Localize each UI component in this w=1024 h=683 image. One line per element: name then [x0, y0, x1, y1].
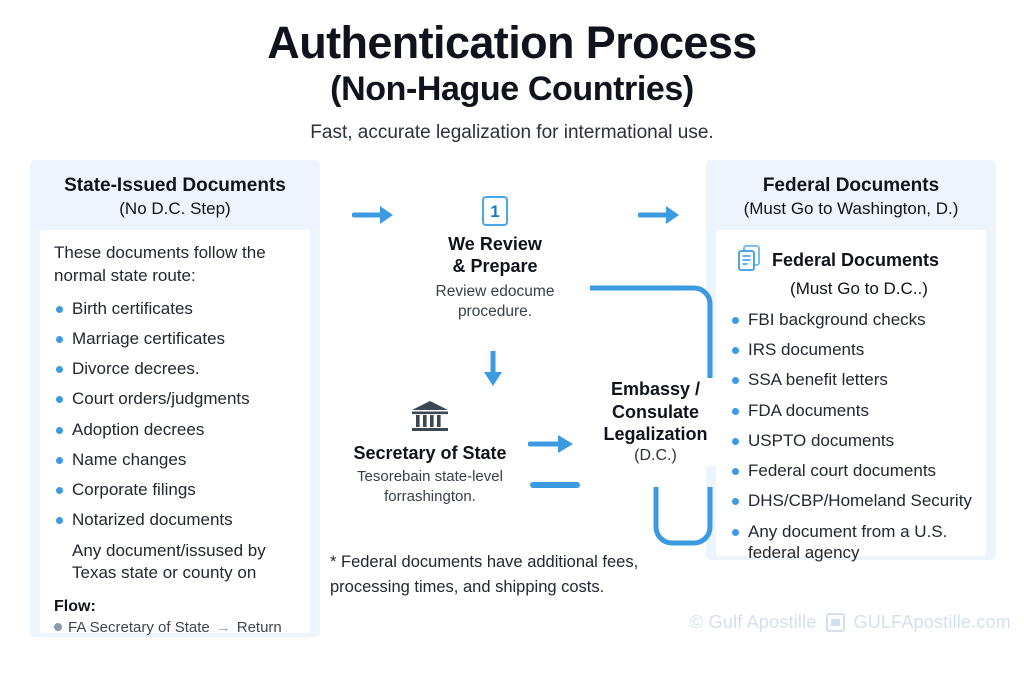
list-item: FBI background checks	[730, 309, 972, 330]
watermark-copyright: © Gulf Apostille	[690, 612, 817, 633]
page-tagline: Fast, accurate legalization for intermat…	[0, 122, 1024, 144]
step-1-desc-line1: Review edocume	[400, 282, 590, 302]
embassy-line2: Consulate	[588, 401, 723, 424]
bank-icon	[409, 421, 451, 438]
list-item: Name changes	[54, 449, 296, 470]
list-item: Federal court documents	[730, 460, 972, 481]
footnote-line1: * Federal documents have additional fees…	[330, 550, 700, 575]
list-item: SSA benefit letters	[730, 369, 972, 390]
arrow-right-to-step1-icon	[352, 202, 396, 233]
sos-desc-line2: forrashington.	[335, 487, 525, 507]
state-documents-panel: State-Issued Documents (No D.C. Step) Th…	[30, 160, 320, 637]
flow-step-text: FA Secretary of State	[68, 619, 210, 636]
step-1-desc-line2: procedure.	[400, 302, 590, 322]
page-subtitle: (Non-Hague Countries)	[0, 72, 1024, 106]
secretary-of-state-card: Secretary of State Tesorebain state-leve…	[335, 398, 525, 503]
connector-bar-sos	[530, 482, 580, 488]
state-note-text: Any document/issused by Texas state or c…	[54, 540, 296, 584]
federal-card-subtitle: (Must Go to D.C..)	[746, 279, 972, 299]
embassy-line1: Embassy /	[588, 378, 723, 401]
sos-desc-line1: Tesorebain state-level	[335, 467, 525, 487]
list-item: Corporate filings	[54, 479, 296, 500]
flow-row: FA Secretary of State → Return	[54, 619, 296, 636]
infographic-canvas: Authentication Process (Non-Hague Countr…	[0, 0, 1024, 683]
step-number-badge: 1	[482, 196, 508, 226]
footnote-line2: processing times, and shipping costs.	[330, 575, 700, 600]
list-item: USPTO documents	[730, 430, 972, 451]
list-item: Any document from a U.S. federal agency	[730, 521, 972, 564]
watermark-site: GULFApostille.com	[854, 612, 1011, 633]
embassy-line4: (D.C.)	[588, 446, 723, 466]
list-item: Adoption decrees	[54, 419, 296, 440]
federal-card-title: Federal Documents	[772, 250, 939, 271]
state-intro-text: These documents follow the normal state …	[54, 242, 296, 288]
arrow-right-to-federal-icon	[638, 202, 682, 233]
documents-icon	[736, 244, 762, 277]
arrow-down-to-sos-icon	[478, 348, 508, 395]
flow-arrow-icon: →	[216, 619, 231, 636]
watermark: © Gulf Apostille GULFApostille.com	[690, 612, 1011, 633]
federal-panel-body: Federal Documents (Must Go to D.C..) FBI…	[716, 230, 986, 556]
flow-label: Flow:	[54, 598, 296, 616]
federal-card-header: Federal Documents	[736, 244, 972, 277]
federal-panel-header: Federal Documents (Must Go to Washington…	[706, 160, 996, 230]
list-item: Marriage certificates	[54, 328, 296, 349]
federal-panel-subheading: (Must Go to Washington, D.)	[716, 198, 986, 220]
embassy-consulate-card: Embassy / Consulate Legalization (D.C.)	[588, 378, 723, 466]
sos-title: Secretary of State	[335, 443, 525, 464]
flow-end-text: Return	[237, 619, 282, 636]
list-item: Court orders/judgments	[54, 388, 296, 409]
list-item: DHS/CBP/Homeland Security	[730, 490, 972, 511]
state-flow-section: Flow: FA Secretary of State → Return	[54, 598, 296, 636]
list-item: Birth certificates	[54, 298, 296, 319]
step-1-title-line1: We Review	[400, 234, 590, 256]
step-1-card: 1 We Review & Prepare Review edocume pro…	[400, 196, 590, 351]
list-item: IRS documents	[730, 339, 972, 360]
footnote: * Federal documents have additional fees…	[330, 550, 700, 600]
federal-documents-panel: Federal Documents (Must Go to Washington…	[706, 160, 996, 560]
list-item: Notarized documents	[54, 509, 296, 530]
state-panel-header: State-Issued Documents (No D.C. Step)	[30, 160, 320, 230]
step-1-title-line2: & Prepare	[400, 256, 590, 278]
arrow-right-to-embassy-icon	[528, 430, 576, 463]
federal-document-list: FBI background checks IRS documents SSA …	[730, 309, 972, 563]
embassy-line3: Legalization	[588, 423, 723, 446]
state-document-list: Birth certificates Marriage certificates…	[54, 298, 296, 531]
state-panel-subheading: (No D.C. Step)	[40, 198, 310, 220]
federal-panel-heading: Federal Documents	[716, 174, 986, 198]
watermark-logo-icon	[826, 613, 845, 632]
state-panel-body: These documents follow the normal state …	[40, 230, 310, 633]
list-item: FDA documents	[730, 400, 972, 421]
flow-bullet-icon	[54, 623, 62, 631]
state-panel-heading: State-Issued Documents	[40, 174, 310, 198]
list-item: Divorce decrees.	[54, 358, 296, 379]
page-title: Authentication Process	[0, 20, 1024, 65]
